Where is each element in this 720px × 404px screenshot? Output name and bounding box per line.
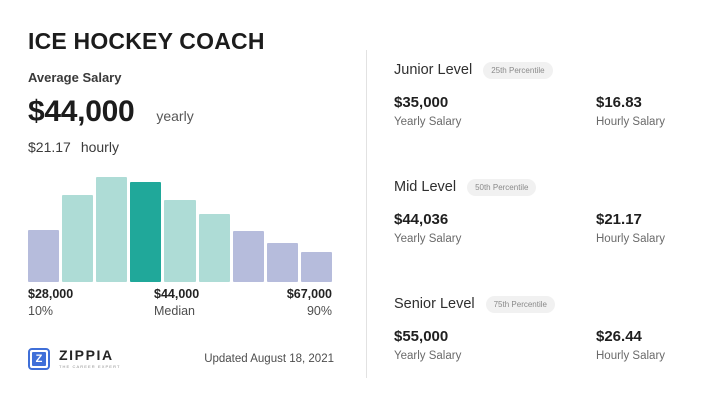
level-header: Mid Level 50th Percentile — [394, 177, 694, 197]
chart-bar — [28, 230, 59, 282]
salary-card: ICE HOCKEY COACH Average Salary $44,000 … — [0, 0, 720, 404]
updated-timestamp: Updated August 18, 2021 — [204, 353, 334, 365]
level-yearly-label: Yearly Salary — [394, 231, 461, 247]
level-block-junior: Junior Level 25th Percentile $35,000 Yea… — [394, 60, 694, 130]
axis-marker-median: $44,000 Median — [154, 286, 199, 320]
chart-bars — [28, 168, 332, 282]
level-hourly-label: Hourly Salary — [596, 348, 665, 364]
average-salary-label: Average Salary — [28, 70, 121, 85]
level-yearly-amount: $44,036 — [394, 211, 461, 229]
average-hourly-amount: $21.17 — [28, 139, 71, 155]
level-yearly-amount: $35,000 — [394, 94, 461, 112]
level-hourly-figure: $16.83 Hourly Salary — [596, 94, 665, 130]
level-figures: $35,000 Yearly Salary $16.83 Hourly Sala… — [394, 94, 694, 130]
level-block-mid: Mid Level 50th Percentile $44,036 Yearly… — [394, 177, 694, 247]
axis-marker-low: $28,000 10% — [28, 286, 73, 320]
level-yearly-label: Yearly Salary — [394, 348, 461, 364]
level-hourly-label: Hourly Salary — [596, 114, 665, 130]
chart-bar — [233, 231, 264, 282]
average-yearly-unit: yearly — [156, 108, 193, 124]
chart-bar — [301, 252, 332, 282]
page-title: ICE HOCKEY COACH — [28, 28, 265, 55]
zippia-wordmark: ZIPPIA THE CAREER EXPERT — [59, 348, 121, 370]
chart-bar — [62, 195, 93, 282]
level-header: Junior Level 25th Percentile — [394, 60, 694, 80]
level-yearly-label: Yearly Salary — [394, 114, 461, 130]
axis-marker-low-value: $28,000 — [28, 286, 73, 302]
zippia-logo-tagline: THE CAREER EXPERT — [59, 363, 121, 370]
level-hourly-amount: $26.44 — [596, 328, 665, 346]
level-yearly-amount: $55,000 — [394, 328, 461, 346]
card-footer: Z ZIPPIA THE CAREER EXPERT Updated Augus… — [28, 348, 334, 378]
average-hourly-salary: $21.17 hourly — [28, 139, 119, 155]
level-yearly-figure: $44,036 Yearly Salary — [394, 211, 461, 247]
level-figures: $55,000 Yearly Salary $26.44 Hourly Sala… — [394, 328, 694, 364]
zippia-logo[interactable]: Z ZIPPIA THE CAREER EXPERT — [28, 348, 121, 370]
percentile-badge: 50th Percentile — [467, 179, 536, 196]
chart-bar — [267, 243, 298, 282]
level-hourly-figure: $26.44 Hourly Salary — [596, 328, 665, 364]
level-hourly-amount: $21.17 — [596, 211, 665, 229]
axis-marker-low-sub: 10% — [28, 302, 73, 320]
level-header: Senior Level 75th Percentile — [394, 294, 694, 314]
average-yearly-salary: $44,000 yearly — [28, 95, 194, 129]
level-name: Junior Level — [394, 62, 472, 78]
chart-axis-labels: $28,000 10% $44,000 Median $67,000 90% — [28, 286, 332, 320]
salary-distribution-chart — [28, 168, 332, 282]
right-panel: Junior Level 25th Percentile $35,000 Yea… — [367, 0, 720, 404]
level-name: Mid Level — [394, 179, 456, 195]
zippia-logo-letter: Z — [32, 352, 46, 366]
chart-bar — [96, 177, 127, 282]
axis-marker-high: $67,000 90% — [287, 286, 332, 320]
level-block-senior: Senior Level 75th Percentile $55,000 Yea… — [394, 294, 694, 364]
average-hourly-unit: hourly — [81, 139, 119, 155]
left-panel: ICE HOCKEY COACH Average Salary $44,000 … — [0, 0, 366, 404]
level-yearly-figure: $55,000 Yearly Salary — [394, 328, 461, 364]
chart-bar — [199, 214, 230, 282]
level-yearly-figure: $35,000 Yearly Salary — [394, 94, 461, 130]
average-yearly-amount: $44,000 — [28, 95, 134, 129]
zippia-logo-word: ZIPPIA — [59, 348, 121, 362]
level-figures: $44,036 Yearly Salary $21.17 Hourly Sala… — [394, 211, 694, 247]
axis-marker-median-sub: Median — [154, 302, 199, 320]
zippia-logo-icon: Z — [28, 348, 50, 370]
chart-bar — [164, 200, 195, 282]
percentile-badge: 25th Percentile — [483, 62, 552, 79]
level-name: Senior Level — [394, 296, 475, 312]
chart-bar — [130, 182, 161, 282]
axis-marker-high-sub: 90% — [287, 302, 332, 320]
percentile-badge: 75th Percentile — [486, 296, 555, 313]
axis-marker-median-value: $44,000 — [154, 286, 199, 302]
level-hourly-label: Hourly Salary — [596, 231, 665, 247]
level-hourly-figure: $21.17 Hourly Salary — [596, 211, 665, 247]
axis-marker-high-value: $67,000 — [287, 286, 332, 302]
level-hourly-amount: $16.83 — [596, 94, 665, 112]
